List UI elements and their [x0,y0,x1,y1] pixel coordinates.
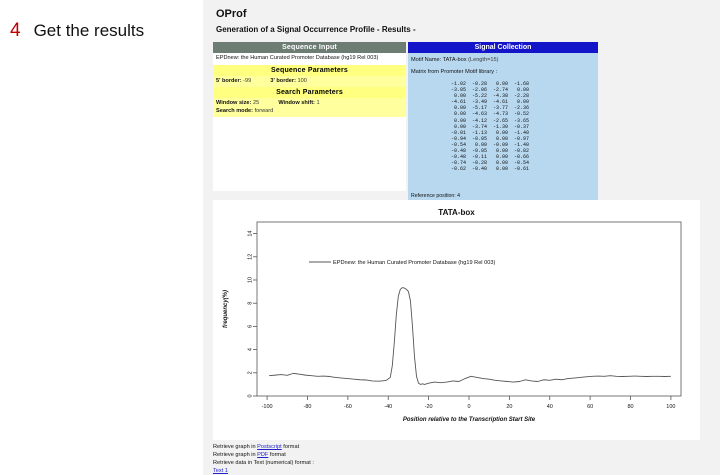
plot-frame [257,222,681,396]
page-subtitle: Generation of a Signal Occurrence Profil… [216,25,416,34]
x-tick-label: -80 [303,404,311,410]
pdf-suffix: format [268,452,285,458]
y-tick-label: 12 [247,254,253,260]
sequence-input-body: EPDnew: the Human Curated Promoter Datab… [213,53,406,65]
x-tick-label: -60 [344,404,352,410]
window-shift-value: 1 [317,100,320,106]
x-tick-label: 80 [627,404,633,410]
pdf-link[interactable]: PDF [257,452,268,458]
y-tick-label: 6 [247,325,253,328]
results-page-content: OProf Generation of a Signal Occurrence … [208,0,720,475]
slide-title: Get the results [34,21,145,41]
x-axis-label: Position relative to the Transcription S… [403,417,536,423]
sequence-input-header: Sequence Input [213,42,406,53]
legend-label: EPDnew: the Human Curated Promoter Datab… [333,260,495,266]
window-size-label: Window size: [216,100,251,106]
left-column-filler [213,117,406,191]
search-mode-label: Search mode: [216,108,253,114]
x-tick-label: 40 [547,404,553,410]
motif-matrix: -1.02 -0.28 0.00 -1.68 -3.05 -2.06 -2.74… [445,81,595,172]
sequence-parameters-header: Sequence Parameters [213,65,406,76]
results-page-panel: OProf Generation of a Signal Occurrence … [203,0,720,475]
motif-name-row: Motif Name: TATA-box (Length=15) [411,56,595,64]
text-format-label: Retrieve data in Text (numerical) format… [213,459,314,467]
series-line [269,288,671,385]
sequence-parameters-body: 5' border: -99 3' border: 100 [213,76,406,88]
search-mode-value: forward [255,108,274,114]
x-tick-label: -20 [425,404,433,410]
text1-link[interactable]: Text 1 [213,468,228,474]
motif-name-value: TATA-box [443,57,467,63]
postscript-row: Retrieve graph in Postscript format [213,443,314,451]
chart-svg: 02468101214-100-80-60-40-20020406080100P… [213,200,700,440]
border3-value: 100 [298,78,307,84]
search-parameters-body: Window size: 25 Window shift: 1 Search m… [213,98,406,117]
window-size-value: 25 [253,100,259,106]
signal-collection-body: Motif Name: TATA-box (Length=15) Matrix … [408,53,598,210]
occurrence-profile-chart: 02468101214-100-80-60-40-20020406080100P… [213,200,700,440]
border5-label: 5' border: [216,78,242,84]
motif-name-label: Motif Name: [411,57,441,63]
postscript-prefix: Retrieve graph in [213,444,257,450]
y-tick-label: 10 [247,277,253,283]
postscript-suffix: format [282,444,299,450]
postscript-link[interactable]: Postscript [257,444,282,450]
app-title: OProf [216,8,247,20]
y-tick-label: 14 [247,231,253,237]
y-axis-label: frequency(%) [223,290,229,328]
x-tick-label: 20 [506,404,512,410]
border5-value: -99 [243,78,251,84]
window-shift-label: Window shift: [278,100,315,106]
slide-number: 4 [10,20,21,42]
slide-heading: 4 Get the results [10,20,144,42]
x-tick-label: 0 [467,404,470,410]
matrix-caption: Matrix from Promoter Motif library : [411,68,595,76]
signal-collection-column: Signal Collection Motif Name: TATA-box (… [408,42,598,210]
chart-card: TATA-box 02468101214-100-80-60-40-200204… [213,200,700,440]
x-tick-label: -100 [262,404,273,410]
text1-row: Text 1 [213,467,314,475]
download-links: Retrieve graph in Postscript format Retr… [213,443,314,475]
x-tick-label: 60 [587,404,593,410]
y-tick-label: 8 [247,302,253,305]
pdf-row: Retrieve graph in PDF format [213,451,314,459]
y-tick-label: 0 [247,394,253,397]
motif-length: (Length=15) [468,57,498,63]
window-row: Window size: 25 Window shift: 1 [216,100,403,108]
search-parameters-header: Search Parameters [213,87,406,98]
y-tick-label: 2 [247,371,253,374]
database-name: EPDnew: the Human Curated Promoter Datab… [216,55,403,63]
border3-label: 3' border: [270,78,296,84]
pdf-prefix: Retrieve graph in [213,452,257,458]
x-tick-label: 100 [666,404,675,410]
border-row: 5' border: -99 3' border: 100 [216,78,403,86]
reference-position: Reference position: 4 [411,193,550,200]
y-tick-label: 4 [247,348,253,351]
signal-collection-header: Signal Collection [408,42,598,53]
x-tick-label: -40 [384,404,392,410]
search-mode-row: Search mode: forward [216,108,403,116]
parameters-column: Sequence Input EPDnew: the Human Curated… [213,42,406,191]
